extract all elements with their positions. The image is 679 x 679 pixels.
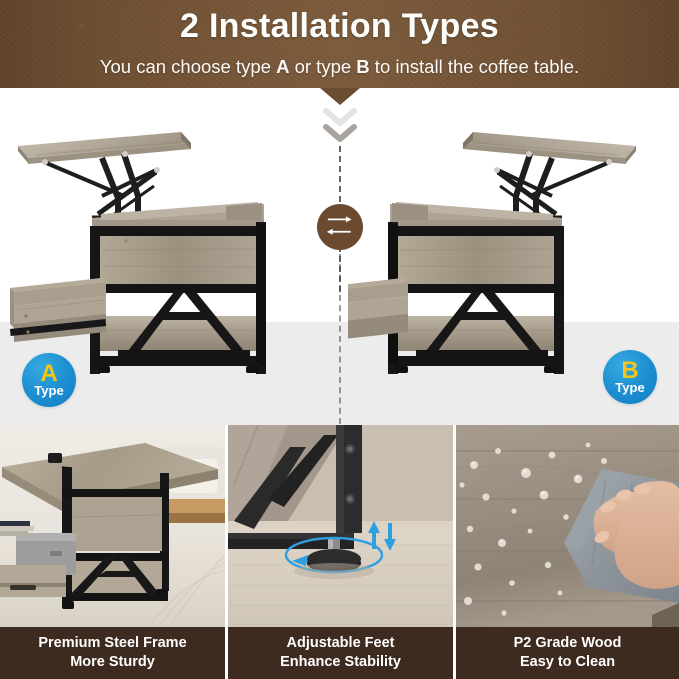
feature-panel-adjustable-feet: Adjustable Feet Enhance Stability [228,425,453,679]
feature-panel-p2-wood: P2 Grade Wood Easy to Clean [456,425,679,679]
product-infographic: 2 Installation Types You can choose type… [0,0,679,679]
feature-panels: Premium Steel Frame More Sturdy [0,425,679,679]
comparison-stage [0,88,679,425]
feature-caption-line2: Easy to Clean [520,653,615,672]
header-banner: 2 Installation Types You can choose type… [0,0,679,88]
page-title: 2 Installation Types [0,7,679,46]
feature-caption-line2: Enhance Stability [280,653,401,672]
header-notch-triangle [320,88,360,105]
subtitle-part-post: to install the coffee table. [370,56,579,77]
swap-horizontal-arrows-icon [317,204,363,250]
badge-type-a-letter: A [40,363,57,385]
badge-type-a-label: Type [34,384,63,398]
badge-type-b-label: Type [615,381,644,395]
subtitle-part-mid: or type [289,56,356,77]
feature-caption-p2-wood: P2 Grade Wood Easy to Clean [456,627,679,679]
table-illustration-type-b [348,110,648,380]
feature-caption-steel-frame: Premium Steel Frame More Sturdy [0,627,225,679]
chevron-down-icon-second [323,124,357,144]
subtitle-part-pre: You can choose type [100,56,276,77]
adjustable-foot-closeup-photo [228,425,453,627]
table-illustration-type-a [6,110,276,380]
badge-type-b: B Type [603,350,657,404]
divider-dashed-line-lower [339,254,341,424]
badge-type-a: A Type [22,353,76,407]
feature-panel-steel-frame: Premium Steel Frame More Sturdy [0,425,225,679]
steel-frame-living-room-photo [0,425,225,627]
feature-caption-adjustable-feet: Adjustable Feet Enhance Stability [228,627,453,679]
feature-caption-line1: Premium Steel Frame [38,634,186,653]
subtitle-type-a: A [276,56,289,77]
hand-wiping-wood-surface-photo [456,425,679,627]
feature-caption-line1: Adjustable Feet [287,634,395,653]
feature-caption-line2: More Sturdy [70,653,155,672]
feature-caption-line1: P2 Grade Wood [514,634,622,653]
badge-type-b-letter: B [621,360,638,382]
page-subtitle: You can choose type A or type B to insta… [0,56,679,78]
subtitle-type-b: B [356,56,369,77]
